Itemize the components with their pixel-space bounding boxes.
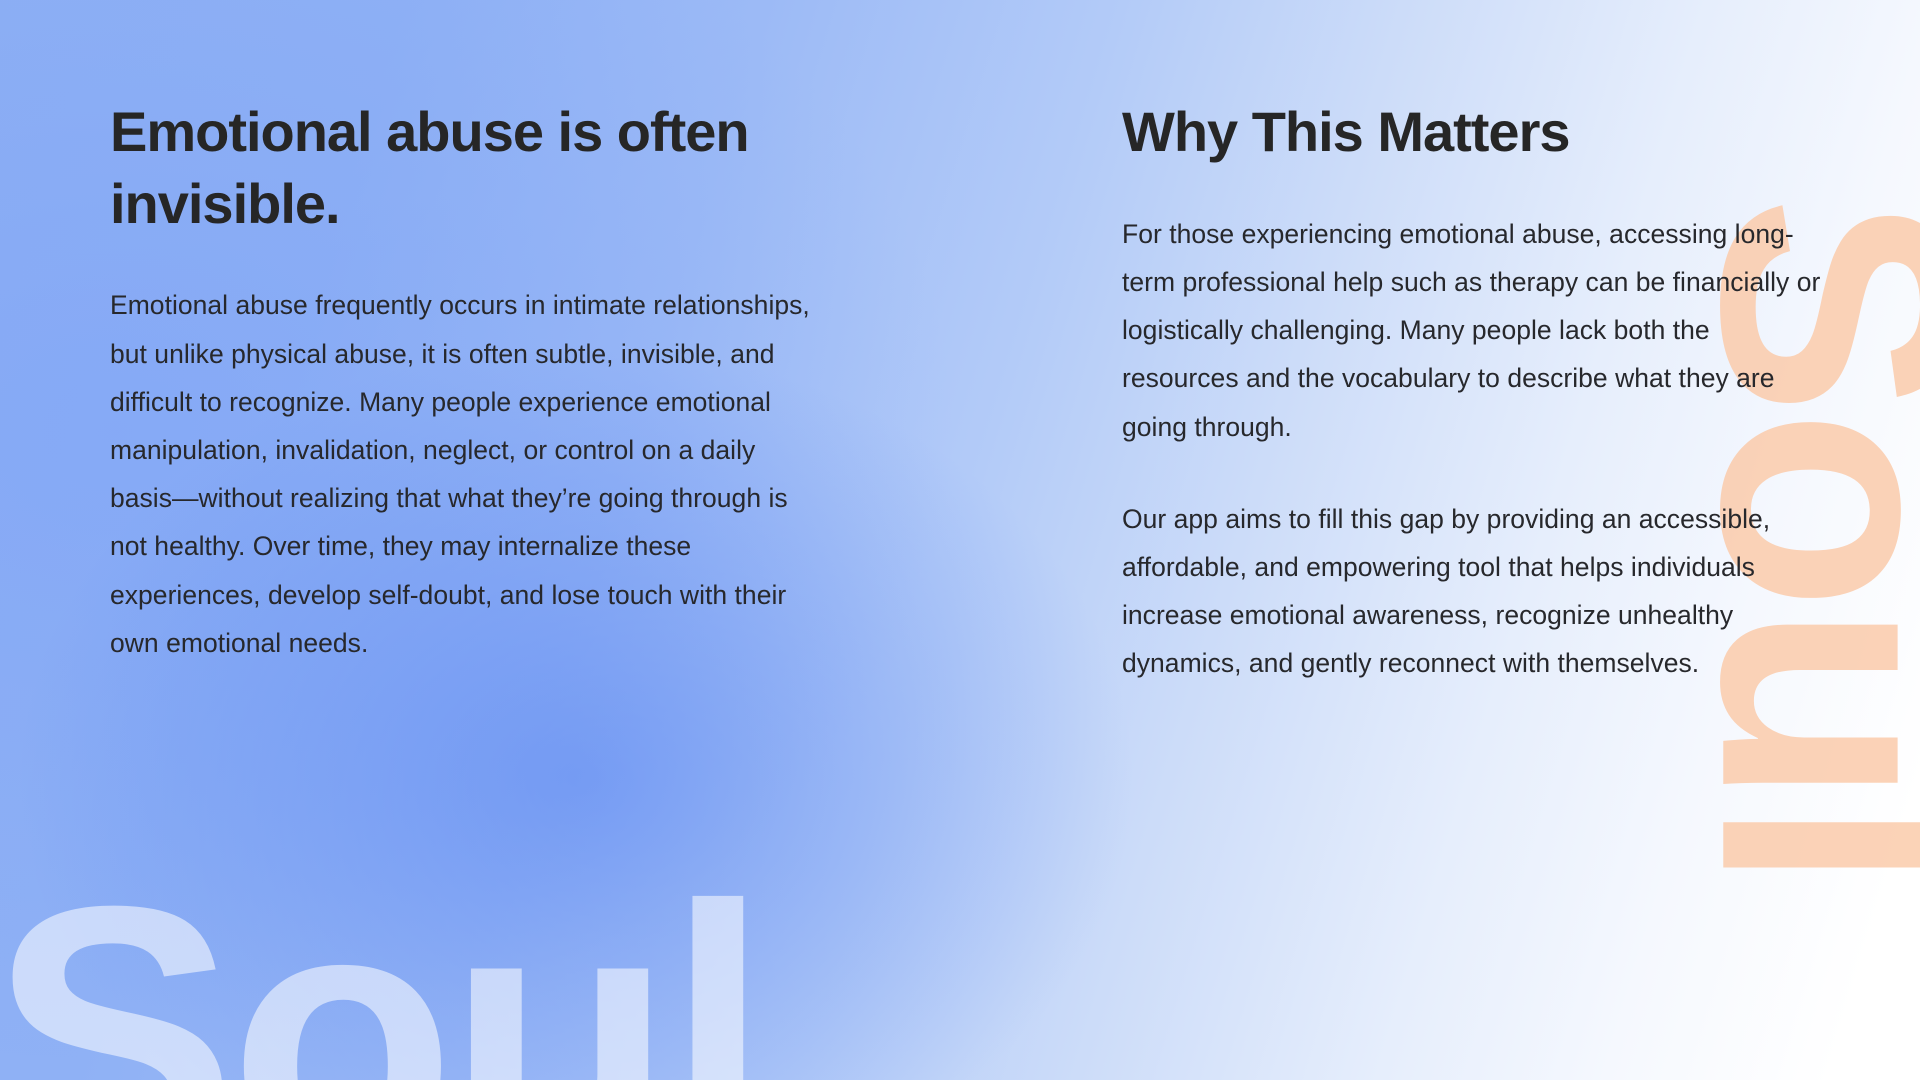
right-column-paragraph-1: For those experiencing emotional abuse, … [1122, 210, 1822, 451]
right-column: Why This Matters For those experiencing … [1122, 96, 1912, 1080]
right-column-paragraph-2: Our app aims to fill this gap by providi… [1122, 495, 1822, 688]
left-column: Emotional abuse is often invisible. Emot… [110, 96, 900, 1080]
left-column-paragraph-1: Emotional abuse frequently occurs in int… [110, 281, 810, 667]
slide-canvas: Soul Soul Emotional abuse is often invis… [0, 0, 1920, 1080]
left-column-heading: Emotional abuse is often invisible. [110, 96, 900, 239]
right-column-heading: Why This Matters [1122, 96, 1912, 168]
slide-content: Emotional abuse is often invisible. Emot… [0, 0, 1920, 1080]
